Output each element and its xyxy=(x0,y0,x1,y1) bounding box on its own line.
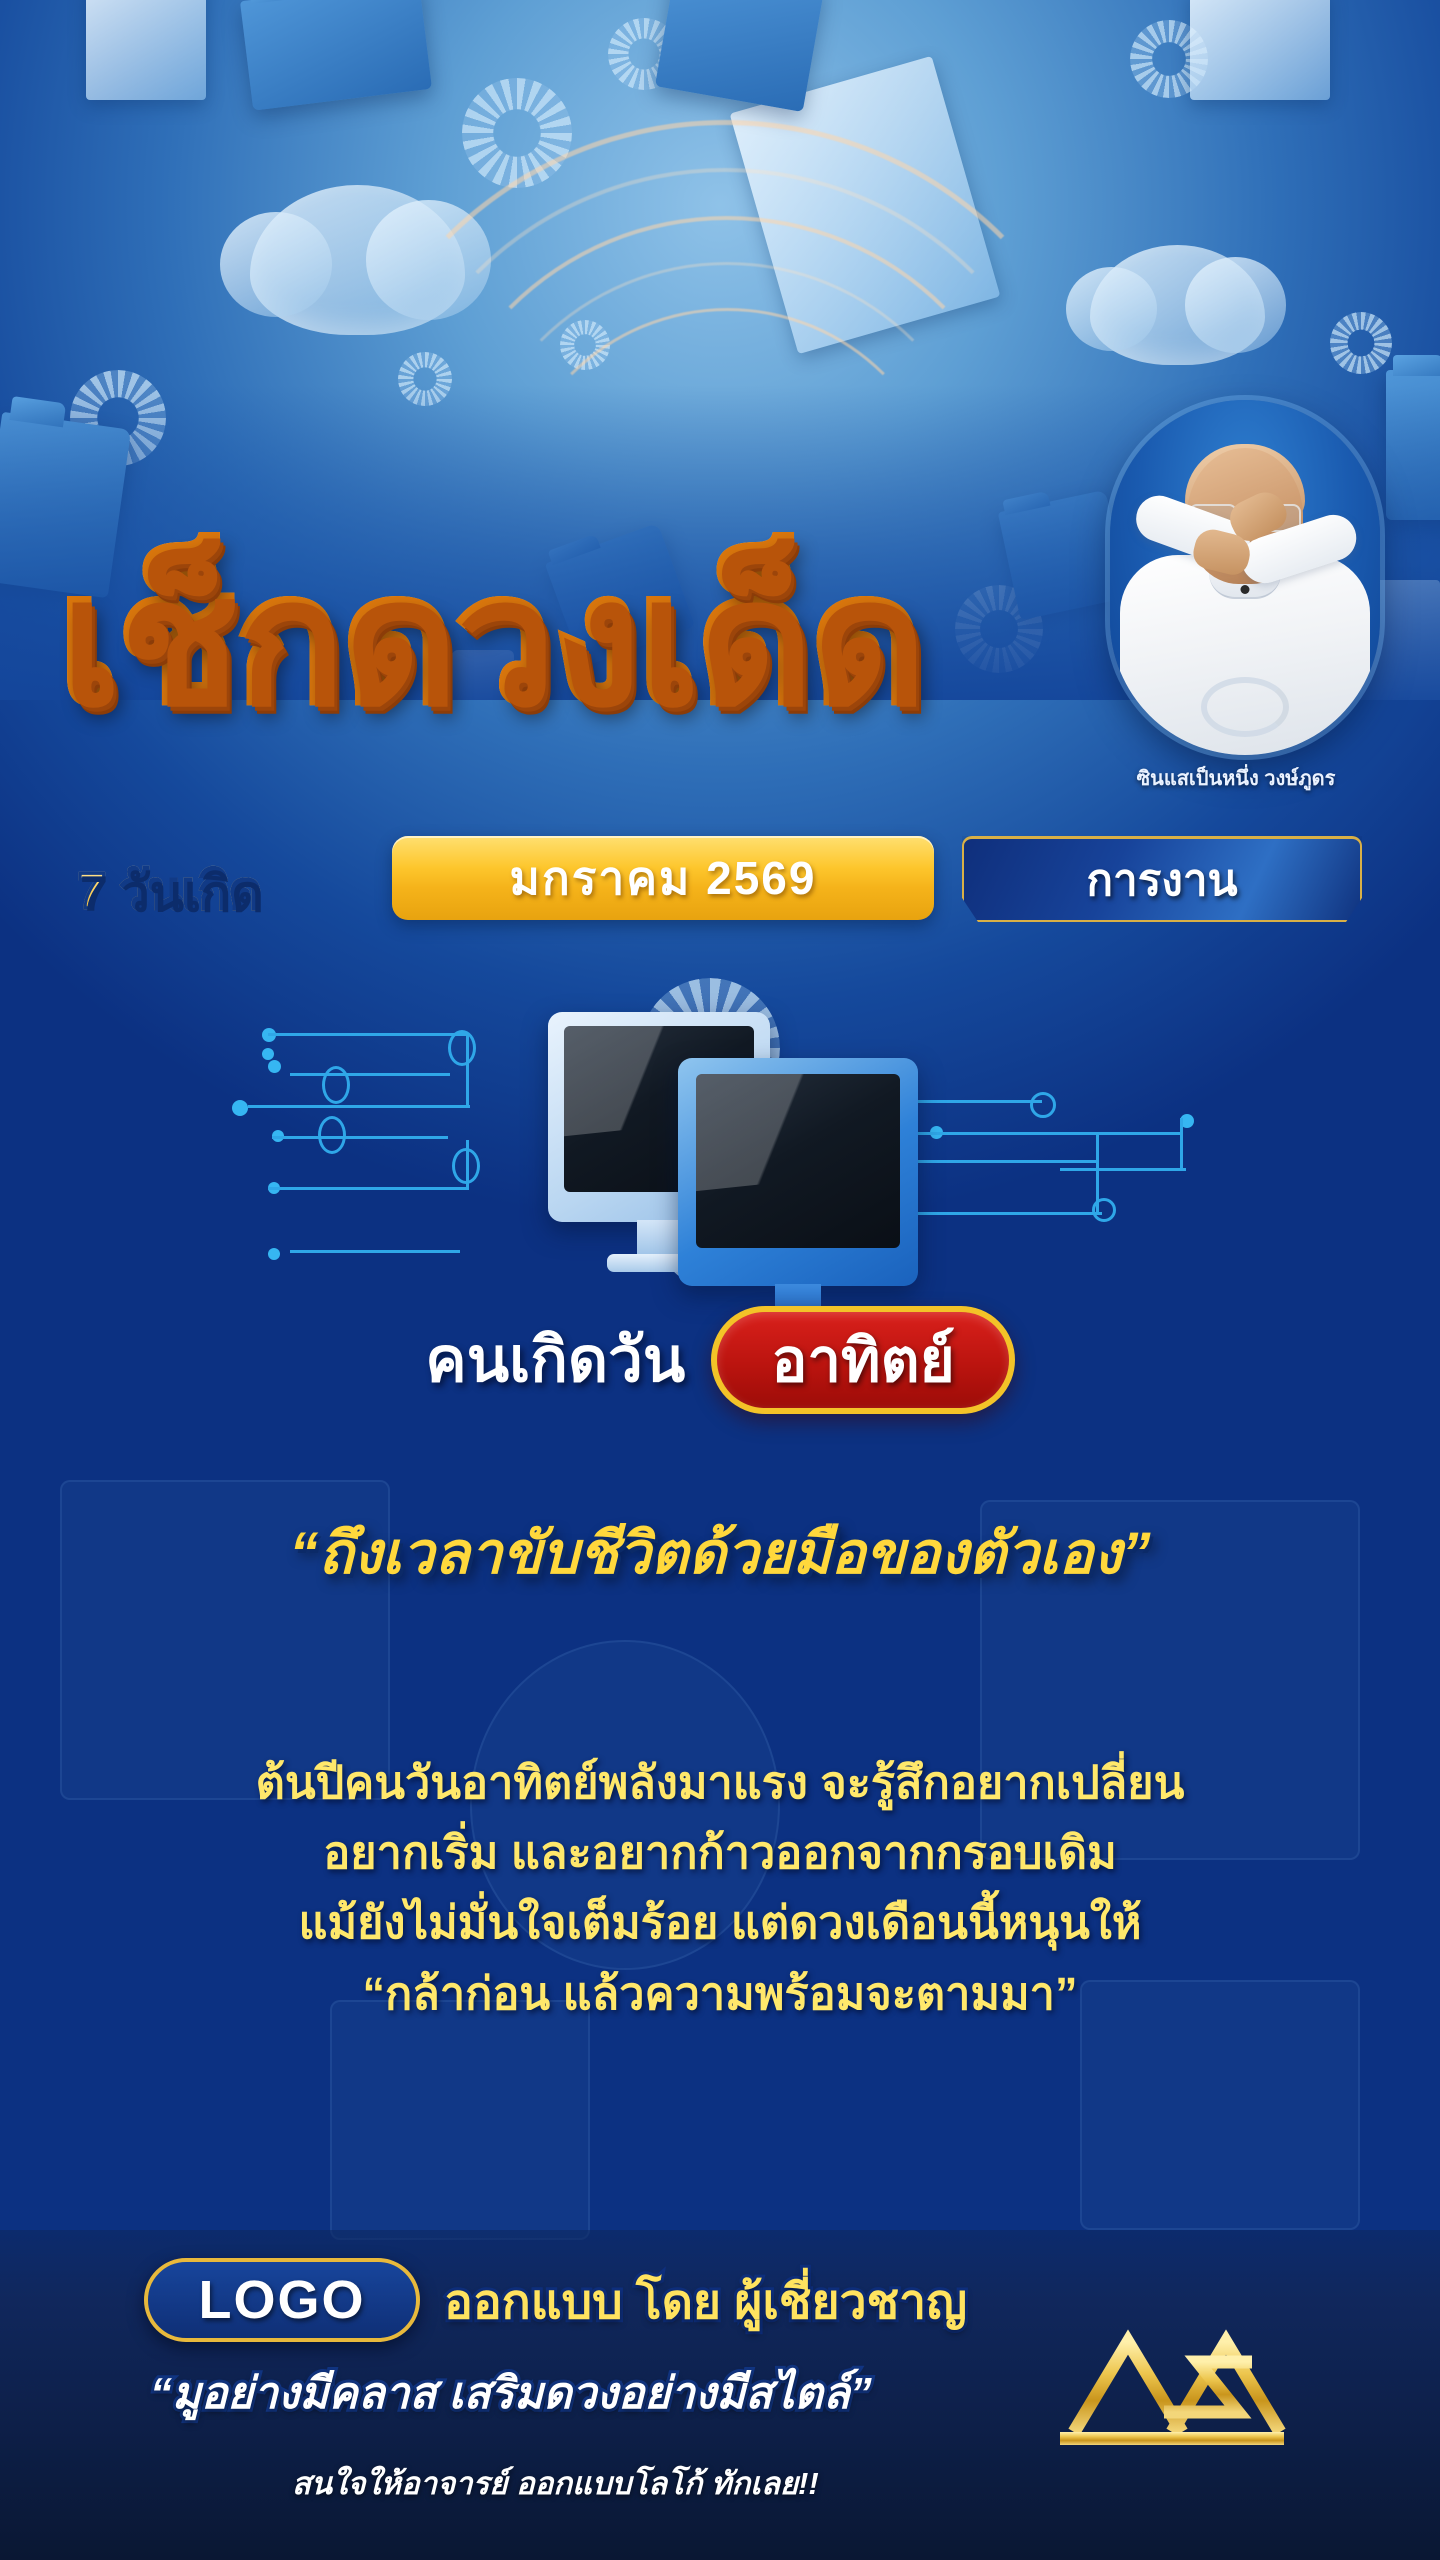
portrait-embroidery xyxy=(1201,677,1289,737)
gear-icon xyxy=(462,78,572,188)
circuit-trace xyxy=(1180,1118,1183,1170)
circuit-dot xyxy=(268,1248,280,1260)
month-badge[interactable]: มกราคม 2569 xyxy=(392,836,934,920)
body-line: แม้ยังไม่มั่นใจเต็มร้อย แต่ดวงเดือนนี้หน… xyxy=(0,1888,1440,1958)
monitor-front xyxy=(678,1058,918,1286)
document-icon xyxy=(1190,0,1330,100)
circuit-trace xyxy=(1096,1132,1099,1214)
tech-illustration xyxy=(0,950,1440,1290)
folder-icon xyxy=(655,0,825,112)
category-badge-label: การงาน xyxy=(1086,845,1237,915)
circuit-trace xyxy=(912,1132,1182,1135)
folder-icon xyxy=(240,0,432,111)
page-title: เช็กดวงเด็ด xyxy=(58,528,923,753)
body-line: ต้นปีคนวันอาทิตย์พลังมาแรง จะรู้สึกอยากเ… xyxy=(0,1748,1440,1818)
headline-quote: “ถึงเวลาขับชีวิตด้วยมือของตัวเอง” xyxy=(0,1506,1440,1599)
circuit-trace xyxy=(268,1033,468,1036)
gear-icon xyxy=(70,370,166,466)
circuit-ring xyxy=(322,1066,350,1104)
circuit-trace xyxy=(912,1212,1102,1215)
seven-days-label: 7 วันเกิด xyxy=(78,852,262,931)
circuit-trace xyxy=(248,1105,470,1108)
document-icon xyxy=(86,0,206,100)
ag-brand-logo-icon xyxy=(1052,2326,1292,2456)
astrologer-name: ซินแสเป็นหนึ่ง วงษ์ภูดร xyxy=(1076,762,1396,794)
birth-day-badge[interactable]: อาทิตย์ xyxy=(711,1306,1014,1414)
circuit-trace xyxy=(272,1136,448,1139)
laptop-icon xyxy=(730,56,1001,354)
circuit-trace xyxy=(466,1033,469,1108)
portrait-shirt xyxy=(1120,555,1370,755)
circuit-dot xyxy=(268,1060,281,1073)
birth-day-label: อาทิตย์ xyxy=(771,1313,954,1408)
footer-bar: LOGO ออกแบบ โดย ผู้เชี่ยวชาญ “มูอย่างมีค… xyxy=(0,2230,1440,2560)
poster-canvas: เช็กดวงเด็ด ซินแสเป็นหนึ่ง วงษ์ภูดร 7 วั… xyxy=(0,0,1440,2560)
body-line: “กล้าก่อน แล้วความพร้อมจะตามมา” xyxy=(0,1959,1440,2029)
badge-row: 7 วันเกิด มกราคม 2569 การงาน xyxy=(0,826,1440,926)
gear-icon xyxy=(1130,20,1208,98)
circuit-trace xyxy=(912,1100,1042,1103)
circuit-dot xyxy=(262,1048,274,1060)
logo-placeholder-button[interactable]: LOGO xyxy=(144,2258,420,2342)
gear-icon xyxy=(560,320,610,370)
circuit-trace xyxy=(290,1250,460,1253)
tagline-label: “มูอย่างมีคลาส เสริมดวงอย่างมีสไตล์” xyxy=(150,2358,872,2428)
gear-icon xyxy=(1330,312,1392,374)
cta-label: สนใจให้อาจารย์ ออกแบบโลโก้ ทักเลย!! xyxy=(292,2458,819,2508)
circuit-dot xyxy=(232,1100,248,1116)
circuit-trace xyxy=(1060,1168,1186,1171)
body-line: อยากเริ่ม และอยากก้าวออกจากกรอบเดิม xyxy=(0,1818,1440,1888)
gear-icon xyxy=(608,18,680,90)
category-badge[interactable]: การงาน xyxy=(962,836,1362,922)
ghost-shape xyxy=(330,2000,590,2240)
folder-icon xyxy=(1386,370,1440,520)
astrologer-portrait xyxy=(1110,400,1380,755)
birth-day-prefix: คนเกิดวัน xyxy=(425,1311,685,1409)
circuit-trace xyxy=(466,1140,469,1190)
cloud-icon xyxy=(1090,245,1265,365)
cloud-icon xyxy=(250,185,465,335)
birth-day-row: คนเกิดวัน อาทิตย์ xyxy=(0,1300,1440,1420)
body-text-block: ต้นปีคนวันอาทิตย์พลังมาแรง จะรู้สึกอยากเ… xyxy=(0,1748,1440,2029)
month-badge-label: มกราคม 2569 xyxy=(510,842,817,915)
gear-icon xyxy=(398,352,452,406)
circuit-trace xyxy=(290,1073,450,1076)
designed-by-label: ออกแบบ โดย ผู้เชี่ยวชาญ xyxy=(444,2264,967,2340)
logo-placeholder-label: LOGO xyxy=(199,2269,366,2331)
circuit-ring xyxy=(1030,1092,1056,1118)
circuit-trace xyxy=(268,1187,468,1190)
circuit-trace xyxy=(912,1160,1098,1163)
circuit-ring xyxy=(318,1116,346,1154)
